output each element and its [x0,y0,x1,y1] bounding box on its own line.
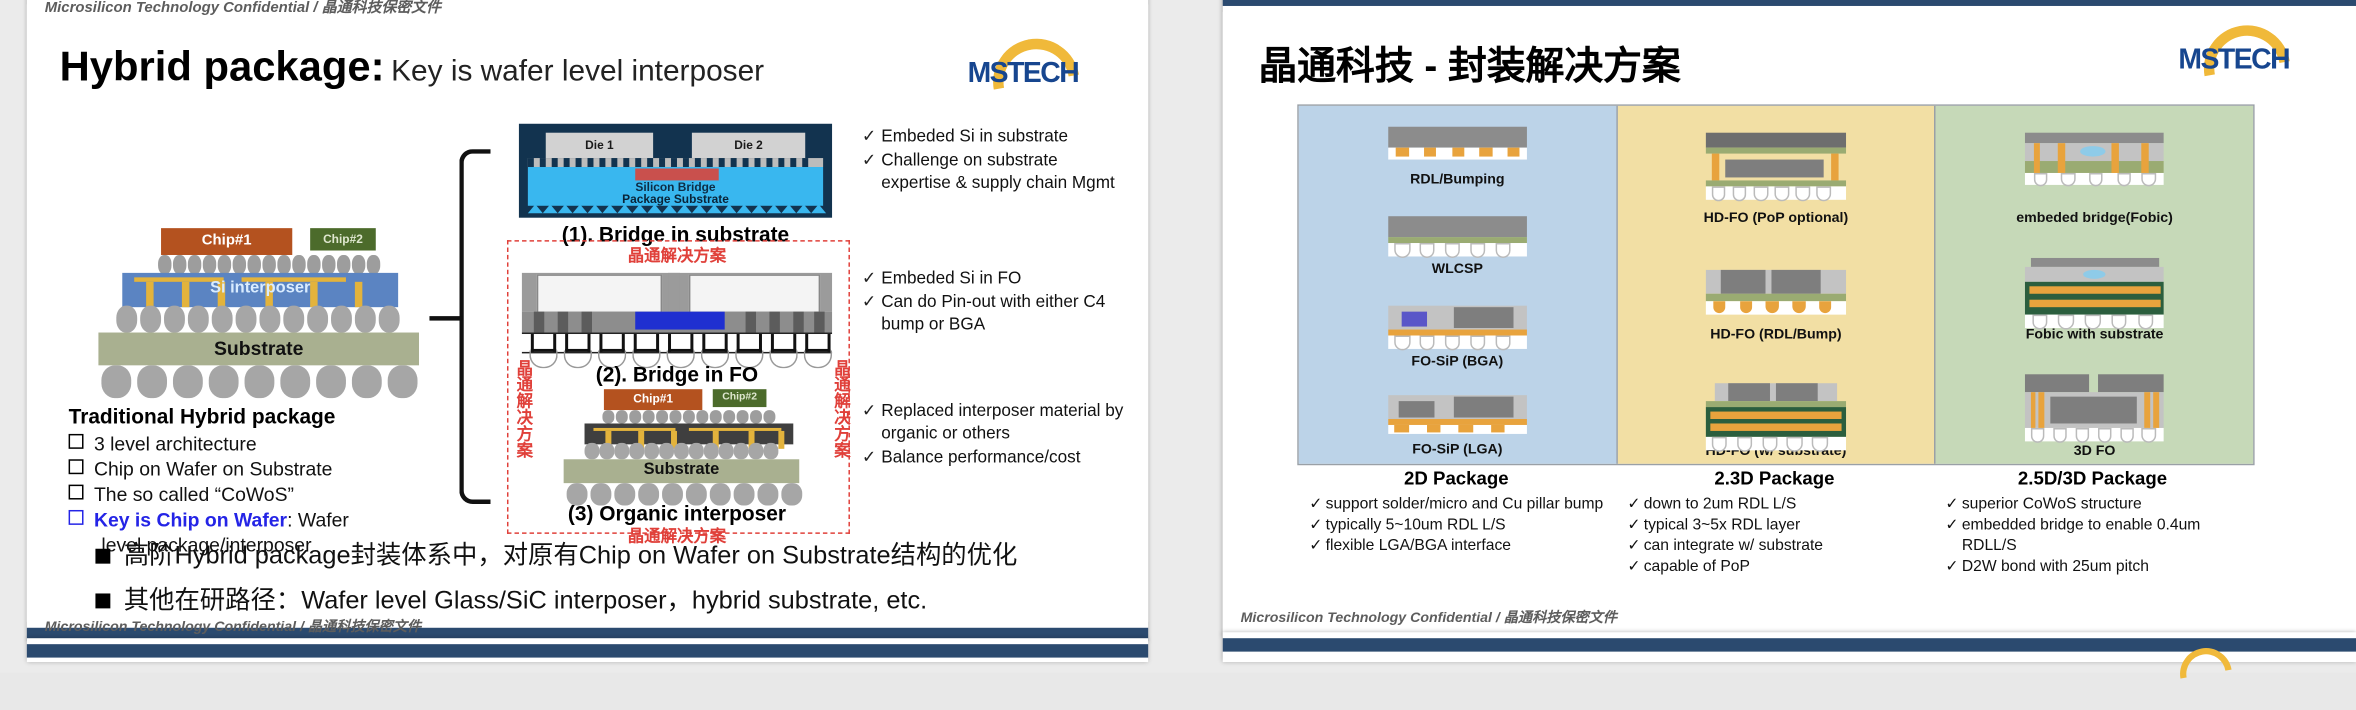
figure3-caption: (3) Organic interposer [507,501,847,525]
decoration [2145,392,2151,428]
decoration [752,204,767,213]
decoration [337,255,350,274]
list-item-label: Balance performance/cost [881,447,1130,469]
list-item: ✓flexible LGA/BGA interface [1309,535,1603,556]
c4-ball-row [116,306,407,333]
decoration [1402,312,1427,327]
decoration [1455,307,1514,328]
decoration [1706,133,1846,148]
decoration [2142,428,2156,443]
decoration [734,443,749,459]
decoration [173,255,186,274]
bottom-bullet-1: 高阶Hybrid package封装体系中，对原有Chip on Wafer o… [95,534,1017,571]
page-title-rest: Key is wafer level interposer [391,55,764,88]
check-icon: ✓ [862,127,881,149]
decoration [670,410,682,423]
die2-block: Die 2 [692,133,805,158]
decoration [1470,243,1486,258]
description-253d-package: 2.5D/3D Package ✓superior CoWoS structur… [1933,468,2251,577]
tiv-via [814,312,824,333]
decoration [2142,143,2149,173]
list-item: ✓capable of PoP [1627,556,1921,577]
chip2-block: Chip#2 [310,228,376,250]
decoration [2029,300,2160,307]
decoration [1772,270,1821,294]
list-item-highlight-rest: : Wafer [287,508,349,530]
list-item-label: typical 3~5x RDL layer [1644,514,1922,535]
decoration [629,443,644,459]
substrate-label: Substrate [564,461,800,479]
decoration [137,365,167,398]
decoration [1720,270,1766,294]
decoration [644,443,659,459]
solution-label-top: 晶通解决方案 [507,243,847,267]
decoration [1399,401,1435,417]
decoration [101,365,131,398]
decoration [614,443,629,459]
list-item-label: capable of PoP [1644,556,1922,577]
list-item: ✓typical 3~5x RDL layer [1627,514,1921,535]
decoration [2097,428,2111,443]
decoration [212,306,233,333]
package-matrix: RDL/Bumping WLCSP FO-SiP (BGA) FO-SiP (L… [1297,104,2254,465]
decoration [2120,428,2134,443]
decoration [659,443,674,459]
check-icon: ✓ [1945,514,1961,556]
decoration [1388,425,1528,434]
check-icon: ✓ [1627,514,1643,535]
decoration [379,306,400,333]
organic-interposer-block [585,423,794,444]
list-item: ✓embedded bridge to enable 0.4um RDLL/S [1945,514,2239,556]
decoration [173,365,203,398]
decoration [573,204,588,213]
pad [599,334,624,352]
decoration [617,204,632,213]
next-slide-strip-left[interactable] [27,638,1148,662]
decoration [1706,294,1846,301]
logo-wordmark: MSTECH [2144,45,2323,78]
slide-body: 晶通科技 - 封装解决方案 MSTECH RDL/Bumping WLCSP F… [1223,12,2356,637]
decoration [576,158,582,167]
slide-body: Hybrid package: Key is wafer level inter… [27,4,1148,621]
decoration [218,255,231,274]
decoration [1508,148,1521,157]
decoration [707,158,713,167]
decoration [564,158,570,167]
list-item-label: typically 5~10um RDL L/S [1326,514,1604,535]
list-item-highlight-bold: Key is Chip on Wafer [94,508,287,530]
square-filled-icon [95,593,110,608]
grouping-brace [459,149,490,504]
decoration [307,306,328,333]
decoration [283,306,304,333]
bottom-bullet-2: 其他在研路径：Wafer level Glass/SiC interposer，… [95,579,927,616]
decoration [616,410,628,423]
decoration [2075,428,2089,443]
decoration [322,255,335,274]
decoration [2025,133,2165,143]
decoration [588,158,594,167]
mstech-logo [2144,647,2251,690]
page-title-bold: Hybrid package: [60,43,385,89]
slide-top-rule [27,644,1148,657]
decoration [766,158,772,167]
decoration [599,158,605,167]
decoration [2061,173,2075,186]
check-icon: ✓ [862,151,881,196]
decoration [2111,143,2118,173]
decoration [209,365,239,398]
decoration [2058,315,2074,330]
decoration [292,255,305,274]
square-outline-icon [69,510,84,525]
description-2d-package: 2D Package ✓support solder/micro and Cu … [1297,468,1615,577]
decoration [796,204,811,213]
decoration [599,443,614,459]
decoration [790,158,796,167]
die1-block: Die 1 [546,133,653,158]
decoration [647,204,662,213]
decoration [259,306,280,333]
decoration [707,204,722,213]
decoration [307,255,320,274]
list-item-label: Replaced interposer material by organic … [881,401,1130,446]
decoration [1776,383,1818,401]
decoration [245,365,275,398]
c4-ball-row [585,443,794,459]
list-item: 3 level architecture [69,431,442,456]
decoration [2050,397,2136,424]
check-icon: ✓ [862,401,881,446]
decoration [662,204,677,213]
checklist-organic-interposer: ✓Replaced interposer material by organic… [862,401,1130,471]
decoration [352,255,365,274]
decoration [1491,425,1505,432]
figure-bridge-in-substrate: Die 1 Die 2 Silicon Bridge Package Subst… [519,124,832,218]
tiv-via [746,312,756,333]
traditional-hybrid-title: Traditional Hybrid package [69,404,442,428]
figure2-caption: (2). Bridge in FO [507,362,847,386]
diagram-label: RDL/Bumping [1299,171,1616,187]
bottom-bullet-1-label: 高阶Hybrid package封装体系中，对原有Chip on Wafer o… [124,541,1018,569]
decoration [277,255,290,274]
slide-hybrid-package[interactable]: Hybrid package: Key is wafer level inter… [27,0,1148,641]
decoration [1388,127,1528,148]
figure-organic-interposer: Chip#1 Chip#2 Substrate [552,389,805,505]
silicon-bridge-block [635,168,719,180]
grouping-brace-stub [429,316,462,320]
check-icon: ✓ [862,292,881,337]
decoration [2030,392,2036,428]
list-item: ✓Balance performance/cost [862,447,1130,469]
decoration [203,255,216,274]
column-title: 2D Package [1309,468,1603,489]
decoration [355,306,376,333]
pad [771,334,796,352]
decoration [1495,336,1511,351]
decoration [331,306,352,333]
decoration [802,158,808,167]
figure-traditional-hybrid: Chip#1 Chip#2 Si interposer Substrate [72,228,430,399]
list-item: The so called “CoWoS” [69,482,442,507]
decoration [2153,392,2159,428]
list-item-label: Embeded Si in FO [881,268,1123,290]
decoration [140,306,161,333]
diagram-label: WLCSP [1299,261,1616,277]
column-2d-package: RDL/Bumping WLCSP FO-SiP (BGA) FO-SiP (L… [1299,106,1618,464]
tiv-via [582,312,592,333]
check-icon: ✓ [1945,556,1961,577]
microbump-band [528,158,823,167]
decoration [1459,425,1473,432]
check-icon: ✓ [1309,514,1325,535]
check-icon: ✓ [1309,535,1325,556]
square-filled-icon [95,549,110,564]
decoration [164,306,185,333]
pad [634,334,659,352]
decoration [2033,143,2040,173]
square-outline-icon [69,459,84,474]
square-outline-icon [69,434,84,449]
page-title: Hybrid package: Key is wafer level inter… [60,43,764,91]
decoration [1395,336,1411,351]
decoration [1396,148,1409,157]
decoration [743,158,749,167]
substrate-block: Substrate [98,333,419,366]
decoration [1495,243,1511,258]
decoration [116,306,137,333]
column-title: 2.3D Package [1627,468,1921,489]
decoration [2030,428,2044,443]
tiv-via [534,312,544,333]
list-item: ✓D2W bond with 25um pitch [1945,556,2239,577]
decoration [2085,315,2101,330]
decoration [2025,374,2089,392]
decoration [1795,186,1809,201]
tiv-via [793,312,803,333]
square-outline-icon [69,485,84,500]
list-item-label: Challenge on substrate expertise & suppl… [881,151,1123,196]
substrate-label: Substrate [98,337,419,359]
decoration [1712,154,1719,181]
decoration [540,158,546,167]
mold-gap [668,273,680,312]
bottom-bullet-2-label: 其他在研路径：Wafer level Glass/SiC interposer，… [124,586,927,614]
checklist-bridge-fo: ✓Embeded Si in FO ✓Can do Pin-out with e… [862,268,1123,338]
decoration [1812,437,1828,452]
decoration [2030,258,2158,267]
decoration [316,365,346,398]
decoration [352,365,382,398]
decoration [704,443,719,459]
decoration [1395,243,1411,258]
decoration [723,410,735,423]
decoration [696,410,708,423]
decoration [262,255,275,274]
bga-saw-row [528,204,823,213]
decoration [1395,425,1409,432]
decoration [811,204,826,213]
decoration [695,158,701,167]
decoration [552,158,558,167]
decoration [659,158,665,167]
decoration [2138,315,2154,330]
column-23d-package: HD-FO (PoP optional) HD-FO (RDL/Bump) HD… [1617,106,1936,464]
check-icon: ✓ [1627,494,1643,515]
decoration [1740,301,1753,313]
embedded-bridge [635,312,724,330]
footer-confidential-right: Microsilicon Technology Confidential / 晶… [1241,605,1617,626]
diagram-label: HD-FO (PoP optional) [1617,210,1934,226]
pad [668,334,693,352]
mstech-logo: MSTECH [2144,24,2323,96]
logo-wordmark: MSTECH [933,58,1112,91]
decoration [766,204,781,213]
list-item-label: flexible LGA/BGA interface [1326,535,1604,556]
decoration [674,443,689,459]
list-item: ✓support solder/micro and Cu pillar bump [1309,494,1603,515]
list-item-label: 3 level architecture [94,432,257,454]
package-descriptions: 2D Package ✓support solder/micro and Cu … [1297,468,2251,577]
list-item: ✓Replaced interposer material by organic… [862,401,1130,446]
checklist-bridge-substrate: ✓Embeded Si in substrate ✓Challenge on s… [862,127,1123,197]
decoration [1427,425,1441,432]
decoration [558,204,573,213]
description-23d-package: 2.3D Package ✓down to 2um RDL L/S ✓typic… [1615,468,1933,577]
decoration [1452,148,1465,157]
decoration [763,410,775,423]
decoration [236,306,257,333]
list-item-label: superior CoWoS structure [1962,494,2240,515]
mstech-logo: MSTECH [933,37,1112,109]
decoration [2032,315,2048,330]
decoration [737,204,752,213]
decoration [1455,397,1514,418]
slide-top-rule [1223,0,2356,6]
pad [531,334,556,352]
decoration [2033,173,2047,186]
list-item: ✓Can do Pin-out with either C4 bump or B… [862,292,1123,337]
decoration [683,410,695,423]
decoration [683,158,689,167]
list-item-label: embedded bridge to enable 0.4um RDLL/S [1962,514,2240,556]
list-item: Chip on Wafer on Substrate [69,456,442,481]
check-icon: ✓ [862,268,881,290]
decoration [602,204,617,213]
decoration [2058,143,2065,173]
list-item-label: support solder/micro and Cu pillar bump [1326,494,1604,515]
check-icon: ✓ [1309,494,1325,515]
microbump-row [602,410,781,423]
decoration [1775,186,1789,201]
decoration [233,255,246,274]
diagram-label: FO-SiP (LGA) [1299,441,1616,457]
decoration [689,443,704,459]
si-interposer-label: Si interposer [122,279,398,297]
chip1-block: Chip#1 [604,389,702,410]
diagram-label: 3D FO [1936,443,2253,459]
diagram-label: HD-FO (RDL/Bump) [1617,327,1934,343]
die-block [537,274,662,313]
list-item: ✓down to 2um RDL L/S [1627,494,1921,515]
bga-ball-row [98,365,419,398]
tiv-via [558,312,568,333]
decoration [388,365,418,398]
column-253d-package: embeded bridge(Fobic) Fobic with substra… [1936,106,2253,464]
decoration [1766,301,1779,313]
decoration [2039,392,2045,428]
decoration [692,204,707,213]
check-icon: ✓ [1627,535,1643,556]
decoration [710,410,722,423]
screenshot-stage: Hybrid package: Key is wafer level inter… [0,0,2356,673]
substrate-block: Substrate [564,459,800,483]
decoration [1754,186,1768,201]
decoration [585,443,600,459]
decoration [749,443,764,459]
decoration [719,158,725,167]
decoration [602,410,614,423]
decoration [1710,412,1841,419]
decoration [248,255,261,274]
decoration [528,204,543,213]
list-item: ✓Challenge on substrate expertise & supp… [862,151,1123,196]
decoration [1424,148,1437,157]
die-block [689,274,820,313]
decoration [1832,154,1839,181]
list-item-label: Chip on Wafer on Substrate [94,458,332,480]
footer-confidential-left: Microsilicon Technology Confidential / 晶… [45,614,421,635]
decoration [763,443,778,459]
si-interposer-block: Si interposer [122,273,398,307]
check-icon: ✓ [1945,494,1961,515]
decoration [188,306,209,333]
decoration [731,158,737,167]
decoration [719,443,734,459]
list-item: ✓Embeded Si in FO [862,268,1123,290]
decoration [677,204,692,213]
decoration [188,255,201,274]
list-item-label: Can do Pin-out with either C4 bump or BG… [881,292,1123,337]
decoration [623,158,629,167]
decoration [671,158,677,167]
decoration [643,410,655,423]
page-title: 晶通科技 - 封装解决方案 [1259,36,1681,91]
decoration [1816,186,1830,201]
check-icon: ✓ [862,447,881,469]
decoration [2081,146,2106,156]
chip1-block: Chip#1 [161,228,292,255]
decoration [750,410,762,423]
pad [702,334,727,352]
decoration [781,204,796,213]
check-icon: ✓ [1627,556,1643,577]
list-item: ✓superior CoWoS structure [1945,494,2239,515]
decoration [2097,374,2164,392]
list-item-label: Embeded Si in substrate [881,127,1123,149]
list-item-label: can integrate w/ substrate [1644,535,1922,556]
decoration [778,158,784,167]
decoration [755,158,761,167]
decoration [1729,383,1771,401]
next-slide-strip-right[interactable] [1223,632,2356,662]
slide-packaging-solutions[interactable]: 晶通科技 - 封装解决方案 MSTECH RDL/Bumping WLCSP F… [1223,0,2356,637]
column-title: 2.5D/3D Package [1945,468,2239,489]
decoration [722,204,737,213]
diagram-label: embeded bridge(Fobic) [1936,210,2253,226]
pad [737,334,762,352]
